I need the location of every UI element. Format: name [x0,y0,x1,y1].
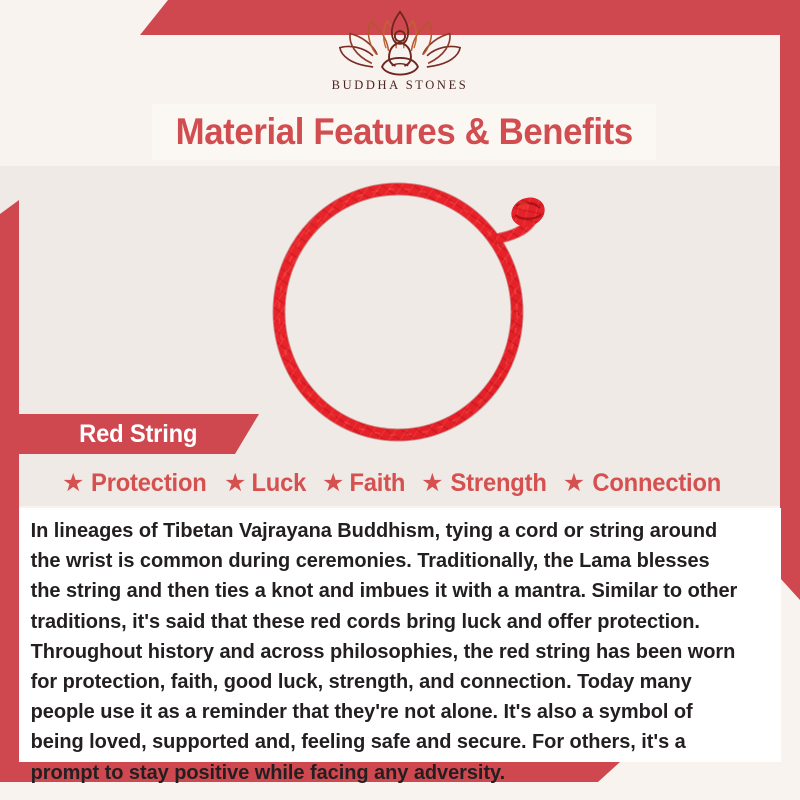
feature-label: Luck [252,469,307,498]
star-icon: ★ [421,471,443,496]
feature-label: Strength [450,469,546,498]
page-title: Material Features & Benefits [175,111,632,153]
ribbon-label: Red String [79,420,197,449]
lotus-meditation-icon [336,8,464,76]
brand-name: BUDDHA STONES [332,78,469,93]
feature-list: ★ Protection ★ Luck ★ Faith ★ Strength ★… [62,466,762,500]
description-text: In lineages of Tibetan Vajrayana Buddhis… [19,512,758,788]
star-icon: ★ [224,471,246,496]
feature-label: Connection [593,469,722,498]
product-image [228,160,580,460]
feature-item-strength: ★ Strength [421,469,549,498]
decorative-bar-right [780,35,800,600]
feature-item-luck: ★ Luck [224,469,308,498]
feature-item-protection: ★ Protection [62,469,210,498]
feature-label: Protection [91,469,207,498]
star-icon: ★ [62,471,84,496]
feature-item-faith: ★ Faith [322,469,407,498]
star-icon: ★ [322,471,344,496]
title-banner: Material Features & Benefits [152,104,656,160]
brand-header: BUDDHA STONES [0,8,800,93]
infographic-page: BUDDHA STONES Material Features & Benefi… [0,0,800,800]
section-ribbon: Red String [19,414,259,454]
feature-item-connection: ★ Connection [563,469,725,498]
description-panel: In lineages of Tibetan Vajrayana Buddhis… [19,508,781,762]
feature-label: Faith [350,469,406,498]
star-icon: ★ [563,471,585,496]
decorative-bar-left [0,200,19,765]
